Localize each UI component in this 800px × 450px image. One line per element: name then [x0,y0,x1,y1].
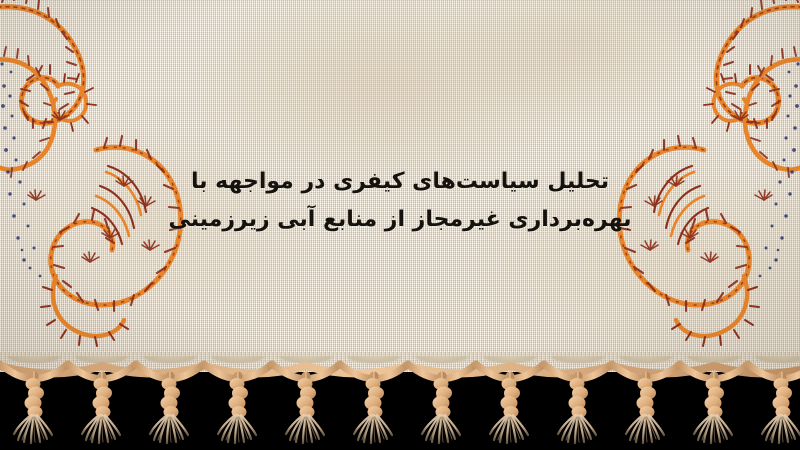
title-line-2: بهره‌برداری غیرمجاز از منابع آبی زیرزمین… [140,201,660,239]
title-card-stage: تحلیل سیاست‌های کیفری در مواجهه با بهره‌… [0,0,800,450]
title-block: تحلیل سیاست‌های کیفری در مواجهه با بهره‌… [140,163,660,239]
title-line-1: تحلیل سیاست‌های کیفری در مواجهه با [140,163,660,201]
